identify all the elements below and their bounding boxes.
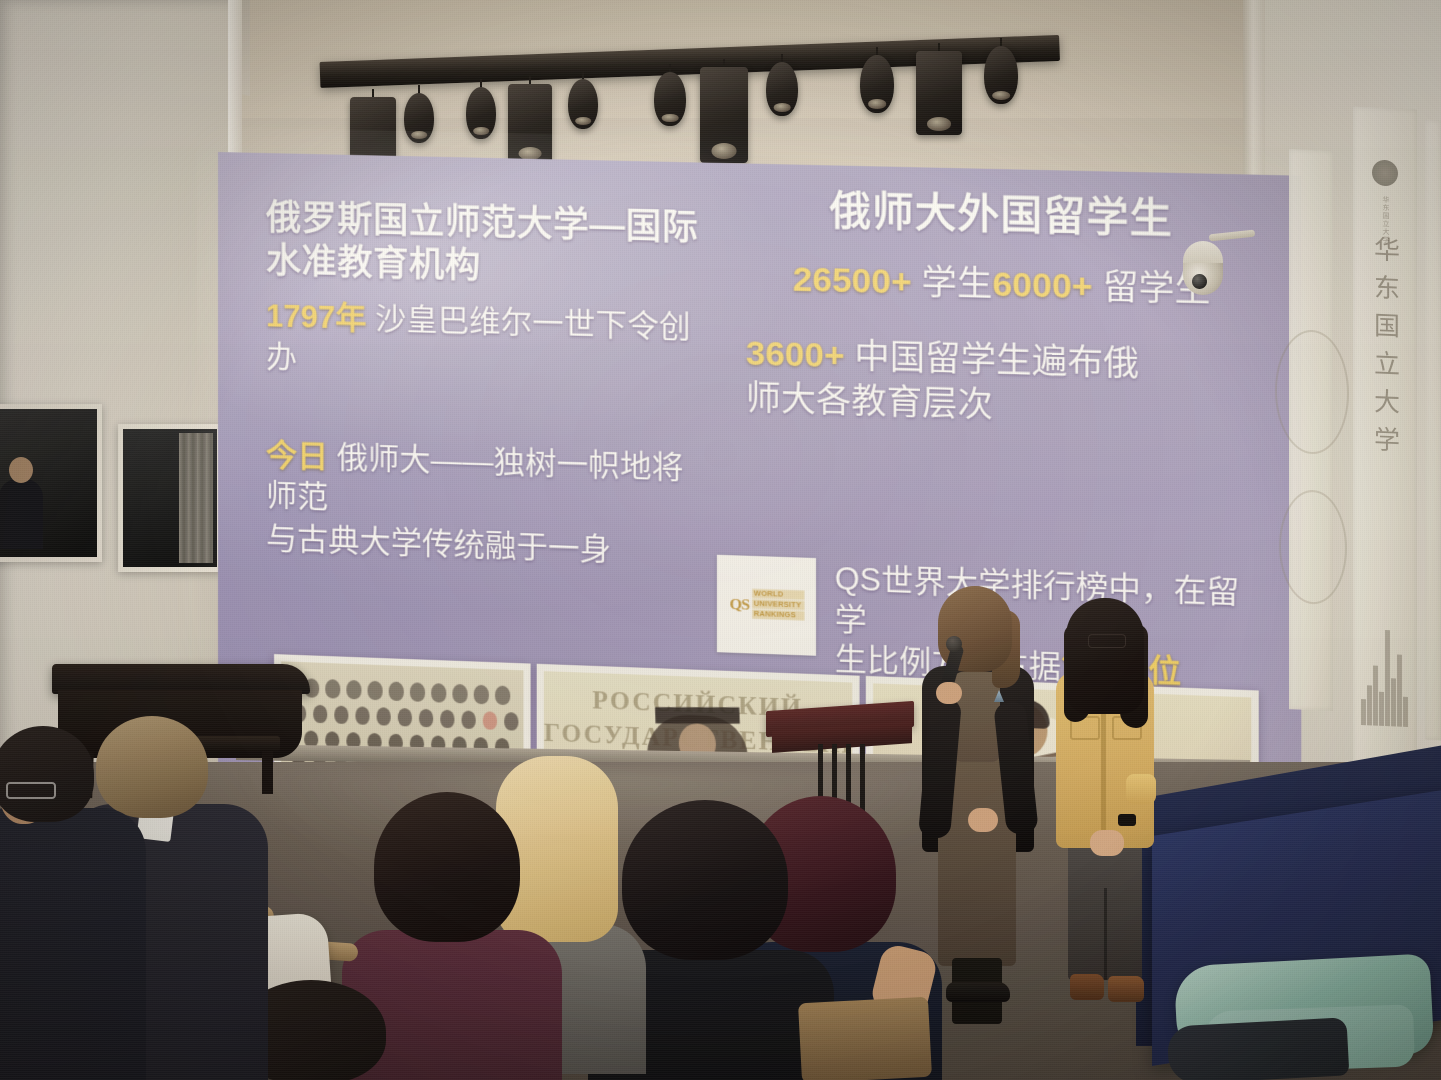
banner-vertical-text: 华东国立大学	[1367, 235, 1404, 465]
interpreter-hair	[1066, 598, 1144, 714]
piano-leg	[262, 750, 273, 794]
stage-light-icon	[654, 64, 686, 128]
slide-stat-line-1: 26500+ 学生6000+ 留学生	[746, 257, 1259, 313]
light-lens	[473, 127, 489, 135]
interpreter	[1044, 598, 1164, 1006]
slide-left-column: 俄罗斯国立师范大学—国际 水准教育机构 1797年 沙皇巴维尔一世下令创办 今日…	[266, 197, 713, 574]
slide-left-line-2: 今日 俄师大——独树一帜地将师范	[266, 435, 713, 530]
audience-hair	[622, 800, 788, 960]
eyeglasses-icon	[1088, 634, 1126, 648]
light-lens	[992, 91, 1010, 100]
light-lens	[868, 99, 886, 108]
light-body	[654, 72, 686, 126]
light-lens	[575, 117, 591, 125]
stat-3600: 3600+	[746, 334, 845, 375]
stage-light-icon	[568, 71, 598, 131]
light-body	[766, 62, 798, 116]
wall-banner-secondary	[1289, 149, 1333, 711]
stage-light-icon	[916, 43, 962, 137]
light-lens	[774, 103, 791, 112]
audience-member-glasses	[0, 726, 136, 1080]
stat-chinese-label: 中国留学生遍布俄	[845, 336, 1139, 383]
speaker-hand	[968, 808, 998, 832]
audience-hair	[0, 726, 94, 822]
today-highlight: 今日	[266, 437, 328, 474]
speaker-shoes	[946, 982, 1010, 1002]
rolled-sleeve-cuff	[1126, 774, 1156, 804]
light-body	[568, 79, 598, 129]
light-body	[860, 55, 894, 113]
wall-banner-edge	[1425, 120, 1441, 741]
slide-right-column: 俄师大外国留学生 26500+ 学生6000+ 留学生 3600+ 中国留学生遍…	[746, 186, 1259, 436]
stage-light-icon	[466, 79, 496, 141]
stage-light-icon	[860, 47, 894, 115]
qs-line-rankings: RANKINGS	[752, 610, 804, 621]
interpreter-clasped-hands	[1090, 830, 1124, 856]
stage-light-icon	[766, 54, 798, 118]
interpreter-jeans-seam	[1104, 888, 1107, 980]
eyeglasses-icon	[6, 782, 56, 799]
qs-mark: QS	[729, 596, 749, 613]
camera-lens	[1192, 274, 1207, 289]
interpreter-boot-left	[1070, 974, 1104, 1000]
interpreter-boot-right	[1108, 976, 1144, 1002]
banner-city-skyline	[1359, 605, 1411, 727]
silhouette-figure	[0, 479, 43, 549]
banner-seal-icon	[1372, 159, 1398, 186]
draped-dark-garment	[1167, 1017, 1350, 1080]
speaker-mic-hand	[936, 682, 962, 704]
qs-world-university-rankings-logo: QS WORLD UNIVERSITY RANKINGS	[717, 555, 816, 656]
stat-26500: 26500+	[793, 260, 912, 302]
presentation-hall-photo: 俄罗斯国立师范大学—国际 水准教育机构 1797年 沙皇巴维尔一世下令创办 今日…	[0, 0, 1441, 1080]
speaker-with-microphone	[908, 586, 1048, 1002]
light-body	[984, 46, 1018, 104]
slide-right-heading: 俄师大外国留学生	[746, 186, 1259, 245]
mortarboard-cap	[655, 707, 740, 724]
light-lens	[662, 114, 679, 123]
wooden-chair	[798, 997, 932, 1080]
stat-6000: 6000+	[992, 265, 1092, 306]
today-rest: 俄师大——独树一帜地将师范	[266, 439, 684, 515]
stage-light-icon	[984, 38, 1018, 106]
slide-left-heading: 俄罗斯国立师范大学—国际 水准教育机构	[266, 197, 713, 294]
light-body	[404, 93, 434, 143]
audience-hair	[374, 792, 520, 942]
stat-students-label: 学生	[912, 263, 993, 304]
wristwatch-icon	[1118, 814, 1136, 826]
slide-left-line-1: 1797年 沙皇巴维尔一世下令创办	[266, 297, 713, 390]
light-body	[466, 87, 496, 139]
left-wall-window-1	[0, 404, 102, 562]
year-highlight: 1797年	[266, 299, 366, 337]
wall-banner-main: 华东国立大学 华东国立大学	[1353, 107, 1417, 770]
stage-light-icon	[404, 85, 434, 145]
light-body	[916, 51, 962, 135]
audience-body	[0, 808, 146, 1080]
light-lens	[927, 117, 951, 130]
